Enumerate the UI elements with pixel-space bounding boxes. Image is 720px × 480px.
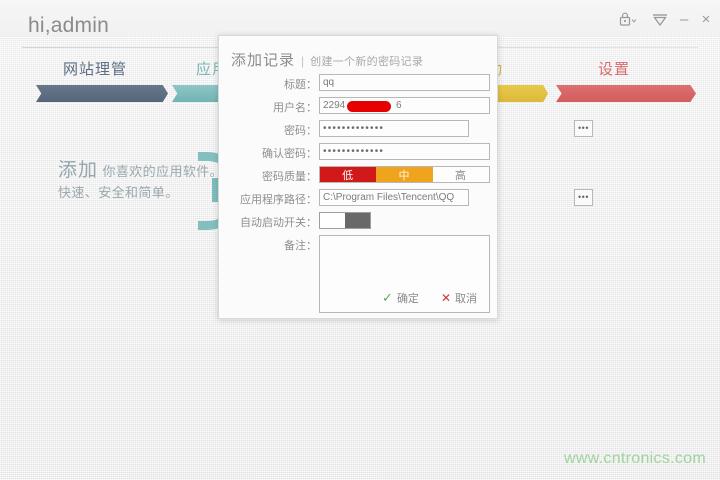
add-record-dialog: 添加记录 | 创建一个新的密码记录 标题： qq 用户名： 2294 6 [218,35,498,319]
label-username: 用户名： [273,99,317,115]
record-form: 标题： qq 用户名： 2294 6 密码： [219,74,499,319]
close-button[interactable]: × [698,10,714,28]
username-input[interactable]: 2294 6 [319,97,490,114]
lock-icon[interactable] [616,10,642,28]
dialog-title: 添加记录 [231,49,295,70]
label-password: 密码： [284,122,317,138]
title-input[interactable]: qq [319,74,490,91]
hero-heading: 添加 [58,160,98,181]
confirm-button-label: 确定 [397,290,419,306]
check-icon: ✓ [382,290,393,306]
filter-icon[interactable] [650,10,670,28]
label-title: 标题： [284,76,317,92]
label-password-quality: 密码质量： [262,168,317,184]
app-path-input[interactable]: C:\Program Files\Tencent\QQ [319,189,469,206]
form-row-autostart: 自动启动开关： [219,212,499,231]
label-app-path: 应用程序路径： [240,191,317,207]
password-quality-meter: 低 中 高 [319,166,490,183]
toggle-track-on [320,213,345,228]
label-confirm-password: 确认密码： [262,145,317,161]
dialog-title-bar: 添加记录 | 创建一个新的密码记录 [231,49,423,70]
watermark-label: www.cntronics.com [564,450,706,468]
form-row-title: 标题： qq [219,74,499,93]
username-redaction-overlay [347,101,391,112]
cancel-button-label: 取消 [455,290,477,306]
nav-segment-website-management[interactable] [36,85,168,102]
greeting-label: hi,admin [28,14,109,38]
minimize-button[interactable]: – [676,10,692,28]
form-row-confirm-password: 确认密码： ••••••••••••• [219,143,499,162]
toggle-knob [345,213,370,228]
dialog-subtitle: 创建一个新的密码记录 [310,53,423,69]
quality-segment-low: 低 [320,167,376,182]
app-path-browse-button[interactable]: ••• [574,189,593,206]
application-window: hi,admin – × 网站理管 应用理管 动 设置 [0,0,720,480]
username-suffix: 6 [396,100,402,111]
password-input[interactable]: ••••••••••••• [319,120,469,137]
nav-label-settings[interactable]: 设置 [598,58,630,79]
cancel-button[interactable]: ✕ 取消 [441,290,477,306]
confirm-button[interactable]: ✓ 确定 [382,290,419,306]
form-row-username: 用户名： 2294 6 [219,97,499,116]
nav-label-website-management[interactable]: 网站理管 [63,58,127,79]
form-row-password-quality: 密码质量： 低 中 高 [219,166,499,185]
window-titlebar: hi,admin – × [0,0,720,36]
username-prefix: 2294 [323,100,345,111]
confirm-password-input[interactable]: ••••••••••••• [319,143,490,160]
quality-segment-medium: 中 [376,167,432,182]
label-note: 备注： [284,237,317,253]
dialog-action-bar: ✓ 确定 ✕ 取消 [219,290,499,306]
form-row-app-path: 应用程序路径： C:\Program Files\Tencent\QQ ••• [219,189,499,208]
dialog-title-separator: | [301,54,304,68]
password-generate-button[interactable]: ••• [574,120,593,137]
label-autostart: 自动启动开关： [240,214,317,230]
autostart-toggle[interactable] [319,212,371,229]
form-row-password: 密码： ••••••••••••• ••• [219,120,499,139]
nav-segment-settings[interactable] [556,85,696,102]
close-x-icon: ✕ [441,291,451,305]
quality-segment-high: 高 [433,167,489,182]
